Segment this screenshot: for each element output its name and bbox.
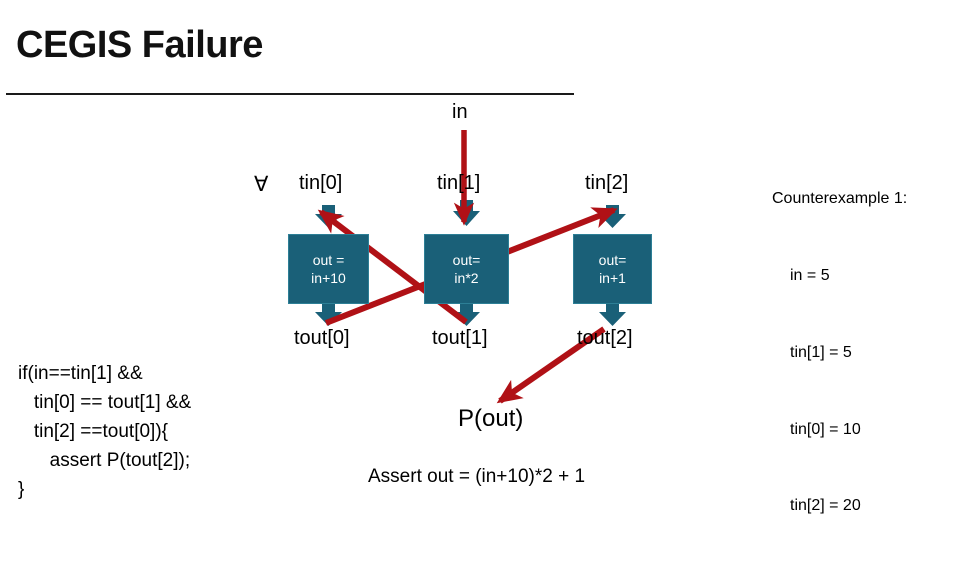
process-box-1-line2: in*2	[454, 269, 478, 287]
block-arrow-tin1-in	[453, 200, 480, 226]
label-tout2: tout[2]	[577, 327, 633, 350]
process-box-0-line1: out =	[313, 251, 345, 269]
code-block: if(in==tin[1] && tin[0] == tout[1] && ti…	[18, 360, 191, 504]
counterexample-item-2: tin[0] = 10	[790, 417, 907, 443]
slide-canvas: CEGIS Failure	[0, 0, 960, 540]
label-tout0: tout[0]	[294, 327, 350, 350]
process-box-1: out= in*2	[424, 234, 509, 304]
block-arrow-tout1-out	[453, 303, 480, 326]
process-box-2-line1: out=	[599, 251, 627, 269]
label-predicate: P(out)	[458, 405, 523, 433]
process-box-0-line2: in+10	[311, 269, 346, 287]
title-divider	[6, 93, 574, 95]
counterexample-item-1: tin[1] = 5	[790, 340, 907, 366]
label-in: in	[452, 101, 468, 124]
label-tin0: tin[0]	[299, 172, 342, 195]
label-assert: Assert out = (in+10)*2 + 1	[368, 466, 585, 488]
process-box-2: out= in+1	[573, 234, 652, 304]
label-tin2: tin[2]	[585, 172, 628, 195]
counterexample-item-3: tin[2] = 20	[790, 493, 907, 519]
label-tin1: tin[1]	[437, 172, 480, 195]
counterexample-item-0: in = 5	[790, 263, 907, 289]
process-box-0: out = in+10	[288, 234, 369, 304]
counterexample-heading: Counterexample 1:	[772, 186, 907, 212]
block-arrow-tin0-in	[315, 205, 342, 228]
counterexample-block: Counterexample 1: in = 5 tin[1] = 5 tin[…	[772, 135, 907, 570]
block-arrow-tout2-out	[599, 303, 626, 326]
forall-symbol: ∀	[254, 172, 268, 197]
process-box-1-line1: out=	[453, 251, 481, 269]
process-box-2-line2: in+1	[599, 269, 626, 287]
block-arrow-tout0-out	[315, 303, 342, 326]
page-title: CEGIS Failure	[16, 24, 263, 67]
block-arrow-tin2-in	[599, 205, 626, 228]
label-tout1: tout[1]	[432, 327, 488, 350]
